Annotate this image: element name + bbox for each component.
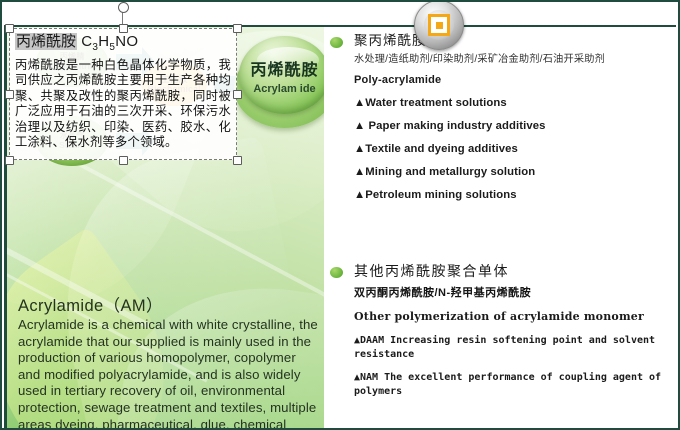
section-other-monomers: 其他丙烯酰胺聚合单体 双丙酮丙烯酰胺/N-羟甲基丙烯酰胺 Other polym… (330, 262, 676, 399)
product-label-cn: 丙烯酰胺 (250, 56, 318, 80)
section1-item: ▲Mining and metallurgy solution (354, 164, 676, 181)
orange-square-inner (436, 22, 443, 29)
section1-item: ▲Water treatment solutions (354, 95, 676, 112)
textbox-title: 丙烯酰胺 C3H5NO (15, 32, 231, 57)
acrylamide-paragraph: Acrylamide is a chemical with white crys… (18, 317, 318, 430)
section1-heading-en: Poly-acrylamide (354, 72, 676, 89)
section2-heading-cn: 其他丙烯酰胺聚合单体 (354, 262, 676, 280)
section1-subtitle-cn: 水处理/造纸助剂/印染助剂/采矿冶金助剂/石油开采助剂 (354, 52, 676, 68)
resize-handle-w[interactable] (5, 90, 14, 99)
right-content-panel: 聚丙烯酰胺 水处理/造纸助剂/印染助剂/采矿冶金助剂/石油开采助剂 Poly-a… (330, 32, 676, 424)
bullet-dot-icon (330, 267, 343, 278)
header-divider (4, 25, 676, 27)
section-polyacrylamide: 聚丙烯酰胺 水处理/造纸助剂/印染助剂/采矿冶金助剂/石油开采助剂 Poly-a… (330, 32, 676, 204)
rotation-handle[interactable] (118, 2, 129, 13)
acrylamide-description-block: Acrylamide（AM） Acrylamide is a chemical … (18, 296, 318, 430)
acrylamide-title: Acrylamide（AM） (18, 296, 318, 316)
section2-item: ▲NAM The excellent performance of coupli… (354, 371, 676, 399)
section1-item: ▲Petroleum mining solutions (354, 187, 676, 204)
resize-handle-se[interactable] (233, 156, 242, 165)
section2-heading-en: Other polymerization of acrylamide monom… (354, 308, 676, 325)
round-toolbar-button[interactable] (414, 0, 464, 50)
product-label-en: Acrylam ide (253, 83, 315, 95)
textbox-title-highlight: 丙烯酰胺 (15, 33, 77, 50)
selected-textbox[interactable]: 丙烯酰胺 C3H5NO 丙烯酰胺是一种白色晶体化学物质，我司供应之丙烯酰胺主要用… (9, 28, 237, 160)
left-border-line (4, 26, 7, 430)
resize-handle-s[interactable] (119, 156, 128, 165)
resize-handle-e[interactable] (233, 90, 242, 99)
section2-subtitle-cn: 双丙酮丙烯酰胺/N-羟甲基丙烯酰胺 (354, 285, 676, 301)
button-inner-bezel (424, 10, 454, 40)
slide-canvas: 丙烯腈 Acrylonitrile 水蒸气 Steam 生化液 Biochemi… (0, 0, 680, 430)
bullet-dot-icon (330, 37, 343, 48)
orange-square-icon (428, 14, 450, 36)
section1-heading-cn: 聚丙烯酰胺 (354, 32, 676, 50)
chemical-formula: C3H5NO (81, 33, 138, 50)
resize-handle-ne[interactable] (233, 24, 242, 33)
resize-handle-nw[interactable] (5, 24, 14, 33)
diagram-product-acrylamide[interactable]: 丙烯酰胺 Acrylam ide (232, 30, 324, 135)
textbox-body: 丙烯酰胺是一种白色晶体化学物质，我司供应之丙烯酰胺主要用于生产各种均聚、共聚及改… (15, 58, 231, 150)
section1-item: ▲Textile and dyeing additives (354, 141, 676, 158)
section1-item: ▲ Paper making industry additives (354, 118, 676, 135)
product-circle-top: 丙烯酰胺 Acrylam ide (239, 36, 324, 114)
resize-handle-n[interactable] (119, 24, 128, 33)
resize-handle-sw[interactable] (5, 156, 14, 165)
section2-item: ▲DAAM Increasing resin softening point a… (354, 334, 676, 362)
